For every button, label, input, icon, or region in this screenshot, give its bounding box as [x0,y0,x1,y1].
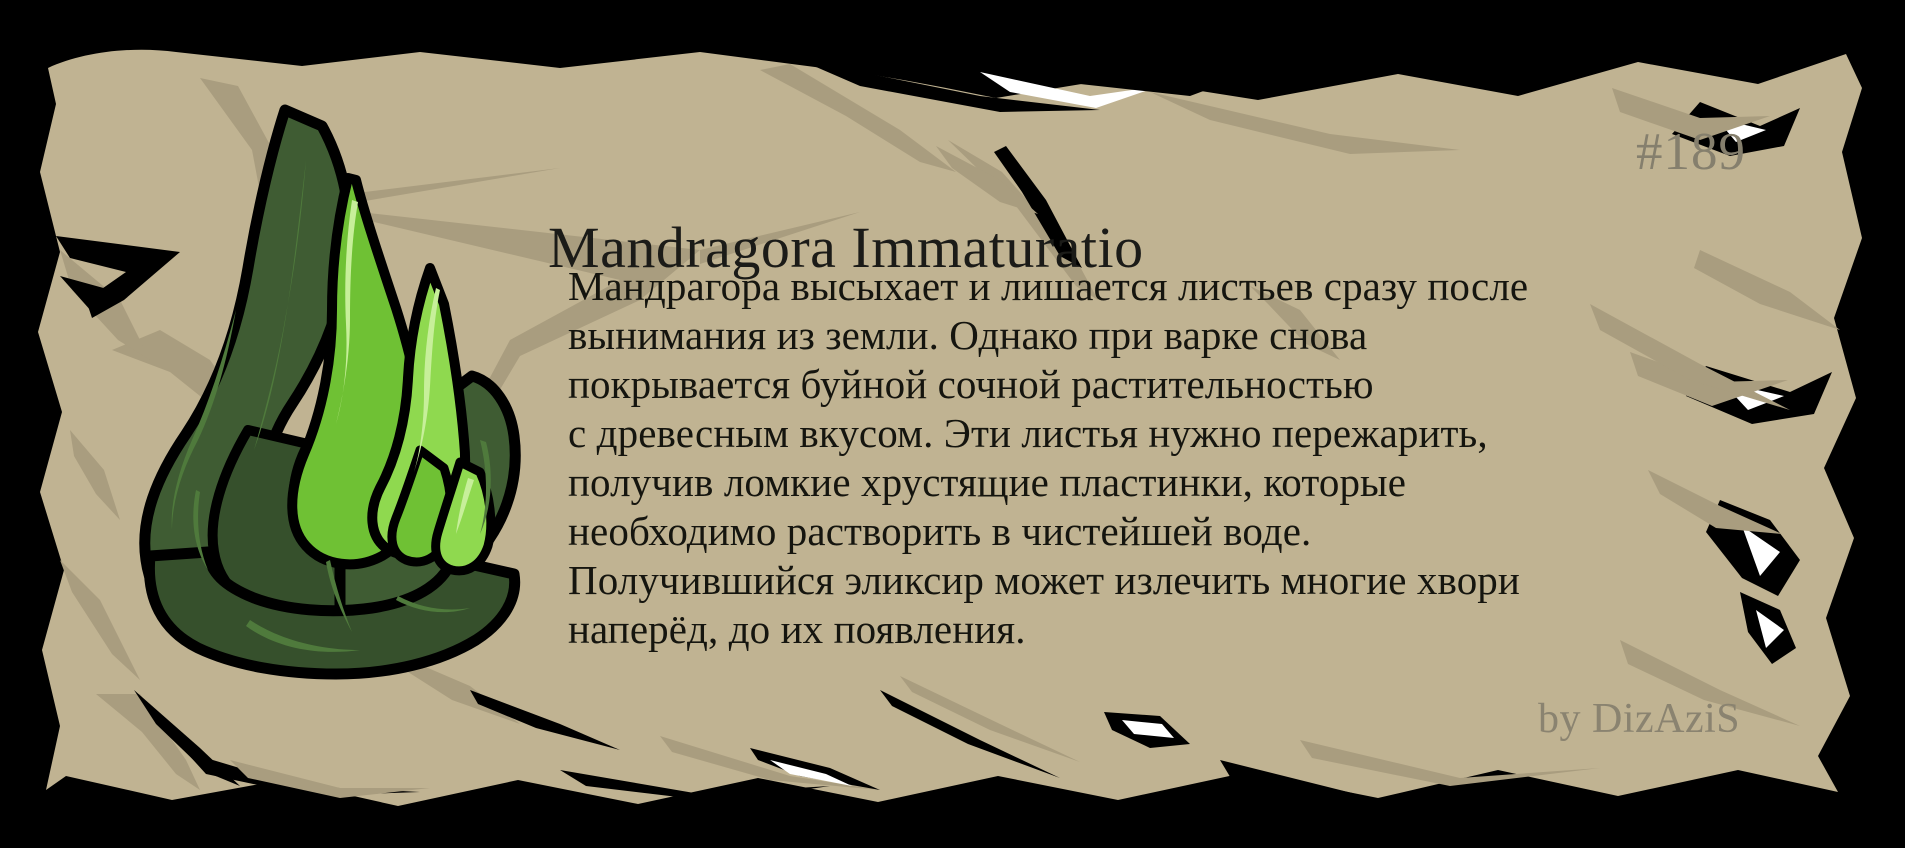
trading-card: #189 Mandragora Immaturatio Мандрагора в… [0,0,1905,848]
description-line: наперёд, до их появления. [568,605,1748,654]
description-line: с древесным вкусом. Эти листья нужно пер… [568,409,1748,458]
description-line: вынимания из земли. Однако при варке сно… [568,311,1748,360]
author-signature: by DizAziS [1538,698,1740,740]
description-line: Мандрагора высыхает и лишается листьев с… [568,262,1748,311]
description-line: покрывается буйной сочной растительность… [568,360,1748,409]
description-line: Получившийся эликсир может излечить мног… [568,556,1748,605]
card-number: #189 [1636,126,1746,179]
description-line: необходимо растворить в чистейшей воде. [568,507,1748,556]
card-description: Мандрагора высыхает и лишается листьев с… [568,262,1748,654]
description-line: получив ломкие хрустящие пластинки, кото… [568,458,1748,507]
